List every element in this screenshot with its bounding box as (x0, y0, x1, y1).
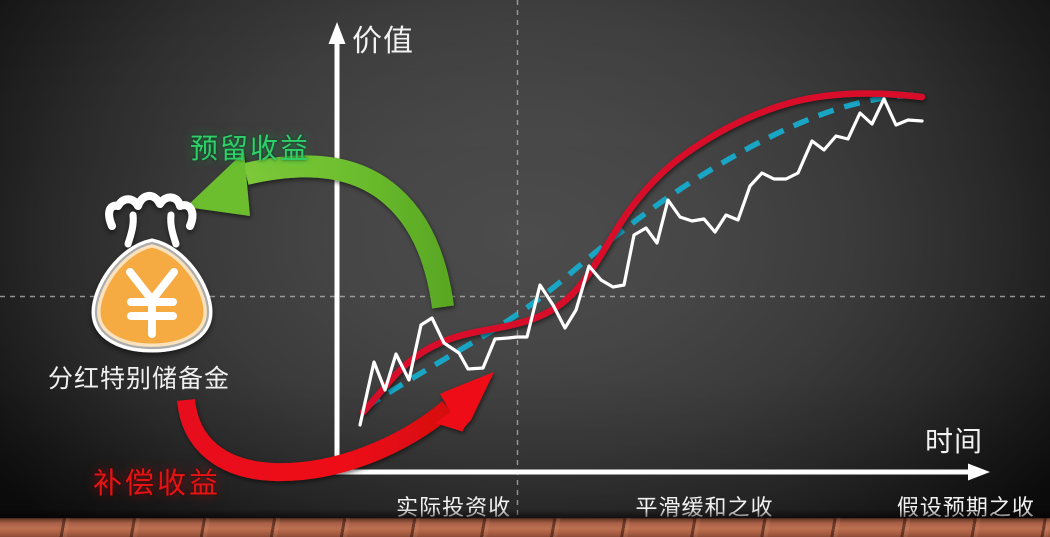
floor-plank-lines (0, 518, 1050, 537)
wooden-floor (0, 518, 1050, 537)
axis-x-label: 时间 (925, 420, 983, 460)
series-smoothed-return (363, 94, 922, 412)
money-bag-icon (96, 196, 208, 348)
series-expected-return (366, 95, 922, 407)
axis-x (335, 464, 990, 481)
diagram-vector-layer (0, 0, 1050, 537)
axis-y-label: 价值 (352, 16, 414, 60)
axis-y (329, 22, 346, 472)
floor-shadow (0, 509, 1050, 518)
red-compensation-arrow (186, 372, 494, 472)
slide-canvas: 价值 时间 预留收益 补偿收益 分红特别储备金 实际投资收益 平滑缓和之收益 假… (0, 0, 1050, 537)
green-reserve-arrow (186, 152, 443, 307)
green-annotation-label: 预留收益 (190, 127, 310, 167)
money-bag-label: 分红特别储备金 (48, 359, 230, 395)
red-annotation-label: 补偿收益 (93, 460, 221, 502)
